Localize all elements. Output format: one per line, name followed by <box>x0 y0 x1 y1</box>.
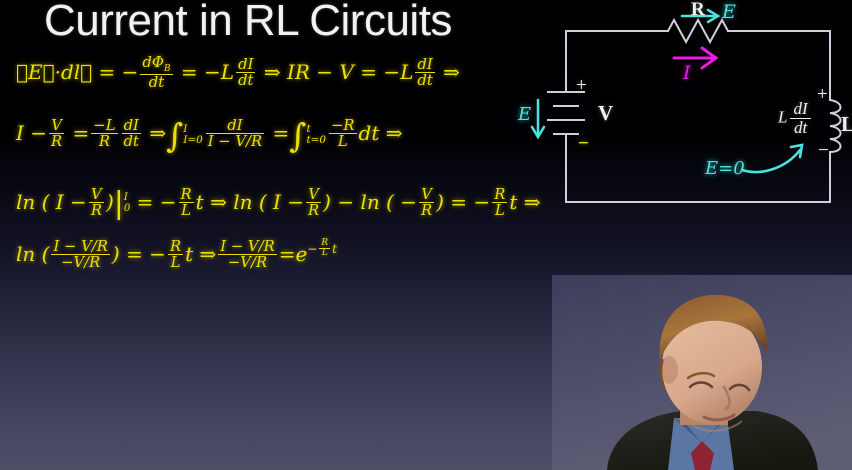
di-numerator-circuit: dI <box>790 100 810 118</box>
current-label: I <box>683 62 691 84</box>
exponent-t: t <box>332 242 337 256</box>
dt-denominator-circuit: dt <box>790 118 810 137</box>
battery-voltage-label: V <box>598 101 613 126</box>
inductor-emf-expression: LdIdt <box>778 100 811 137</box>
euler-e: e <box>296 242 308 266</box>
rl-circuit-diagram <box>0 0 852 240</box>
result-denominator: −V/R <box>218 254 276 270</box>
battery-emf-label: E <box>518 104 531 125</box>
inductor-minus-label: − <box>818 140 829 162</box>
inductor-coil <box>830 100 841 152</box>
ln-open-3: ln ( <box>16 242 49 266</box>
inductor-emf-note: E=0 <box>705 158 745 179</box>
inductor-plus-label: + <box>817 84 828 106</box>
resistor-label: R <box>691 0 705 21</box>
t-variable-3: t <box>185 242 193 266</box>
resistor-emf-label: E <box>722 1 736 23</box>
battery-minus-label: − <box>578 133 589 155</box>
di-dt-fraction-circuit: dIdt <box>790 100 810 137</box>
exponent-group: −RLt <box>307 242 337 256</box>
battery-plus-label: + <box>576 75 587 97</box>
inductor-emf-curve <box>742 150 800 172</box>
exponent-l: L <box>319 248 330 258</box>
exponent-minus: − <box>307 242 317 256</box>
equation-line-4: ln (I − V/R−V/R) = −RLt ⇒I − V/R−V/R=e−R… <box>16 240 337 271</box>
minus-vr-denominator: −V/R <box>51 254 109 270</box>
lecture-slide: Current in RL Circuits ∮E⃗·dl⃗ = −dΦBdt … <box>0 0 852 470</box>
i-minus-vr-numerator: I − V/R <box>51 239 109 254</box>
result-numerator: I − V/R <box>218 239 276 254</box>
l-denominator-3: L <box>168 254 183 270</box>
r-over-l-fraction-3: RL <box>168 239 183 270</box>
exponent-r-over-l: RL <box>319 239 330 258</box>
r-numerator-3: R <box>168 239 183 254</box>
resistor-zigzag <box>668 20 728 42</box>
implies-arrow-7: ⇒ <box>200 242 217 266</box>
presenter-video <box>552 275 852 470</box>
ln-close-4: ) = − <box>112 242 166 266</box>
inductor-emf-coefficient: L <box>778 107 787 126</box>
equals-sign-4: = <box>279 242 296 266</box>
big-ratio-fraction: I − V/R−V/R <box>51 239 109 270</box>
inductor-label: L <box>841 112 852 137</box>
result-ratio-fraction: I − V/R−V/R <box>218 239 276 270</box>
